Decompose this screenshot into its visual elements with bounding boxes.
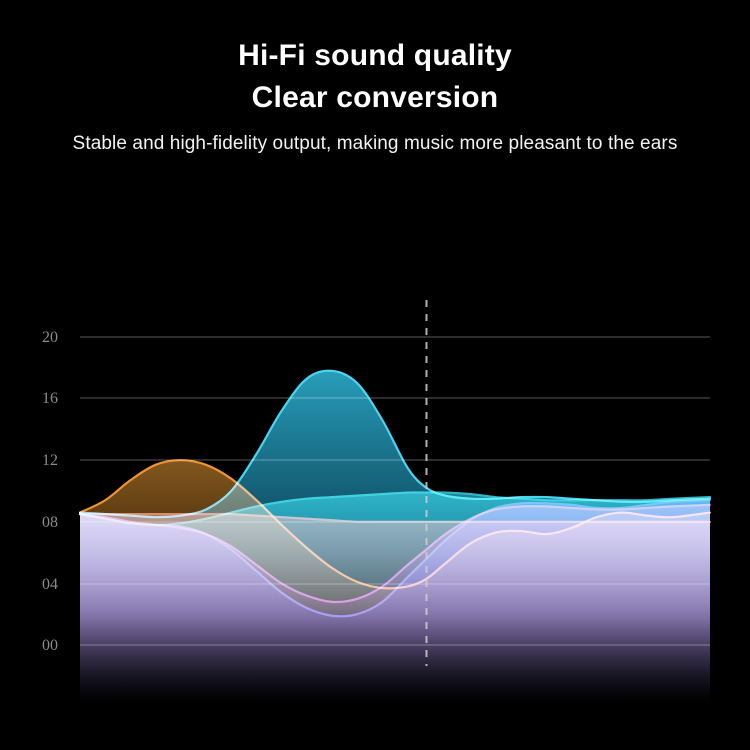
promo-banner: Hi-Fi sound quality Clear conversion Sta… [0,0,750,750]
y-tick-label: 16 [42,390,58,407]
y-tick-label: 20 [42,329,58,346]
y-tick-label: 04 [42,576,58,593]
y-axis-ticks: 201612080400 [42,329,58,654]
chart-canvas: 201612080400 [0,0,750,750]
y-tick-label: 12 [42,452,58,469]
y-tick-label: 08 [42,514,58,531]
y-tick-label: 00 [42,637,58,654]
series-layers [80,371,710,705]
audio-waveform-chart: 201612080400 [0,0,750,750]
